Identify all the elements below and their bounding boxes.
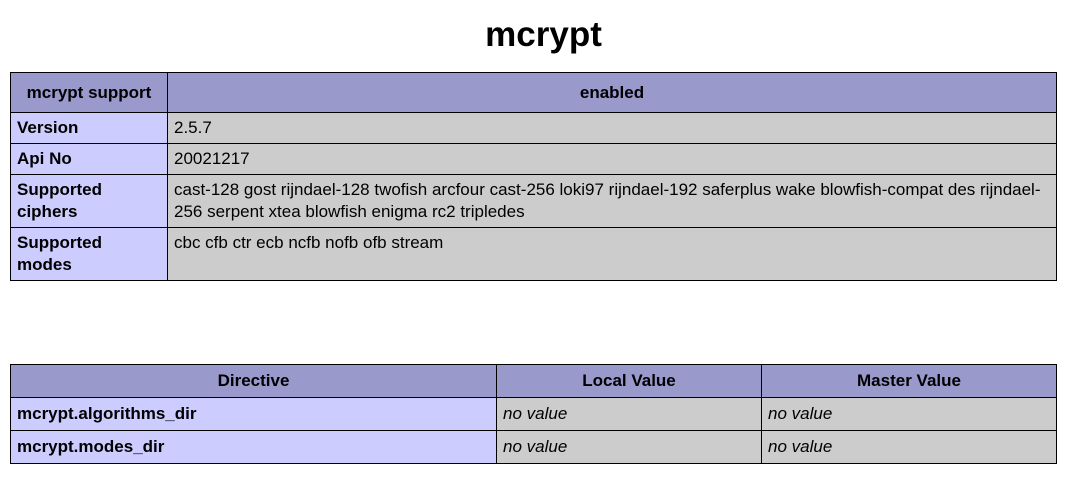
module-name-header: mcrypt support: [11, 73, 168, 113]
row-label-supported-modes: Supported modes: [11, 228, 168, 281]
table-row: Supported ciphers cast-128 gost rijndael…: [11, 175, 1057, 228]
mcrypt-module-table: mcrypt support enabled Version 2.5.7 Api…: [10, 72, 1057, 281]
column-header-directive: Directive: [11, 365, 497, 398]
page-title: mcrypt: [0, 0, 1087, 56]
row-value-supported-ciphers: cast-128 gost rijndael-128 twofish arcfo…: [168, 175, 1057, 228]
table-row: mcrypt.algorithms_dir no value no value: [11, 398, 1057, 431]
directive-master-value-algorithms-dir: no value: [762, 398, 1057, 431]
directive-master-value-modes-dir: no value: [762, 431, 1057, 464]
mcrypt-directive-table: Directive Local Value Master Value mcryp…: [10, 364, 1057, 464]
row-label-version: Version: [11, 113, 168, 144]
row-label-supported-ciphers: Supported ciphers: [11, 175, 168, 228]
directive-local-value-algorithms-dir: no value: [497, 398, 762, 431]
row-value-supported-modes: cbc cfb ctr ecb ncfb nofb ofb stream: [168, 228, 1057, 281]
directive-name-modes-dir: mcrypt.modes_dir: [11, 431, 497, 464]
row-value-api-no: 20021217: [168, 144, 1057, 175]
directive-local-value-modes-dir: no value: [497, 431, 762, 464]
directive-name-algorithms-dir: mcrypt.algorithms_dir: [11, 398, 497, 431]
row-label-api-no: Api No: [11, 144, 168, 175]
module-status-header: enabled: [168, 73, 1057, 113]
table-header-row: mcrypt support enabled: [11, 73, 1057, 113]
column-header-master-value: Master Value: [762, 365, 1057, 398]
column-header-local-value: Local Value: [497, 365, 762, 398]
row-value-version: 2.5.7: [168, 113, 1057, 144]
table-row: Api No 20021217: [11, 144, 1057, 175]
table-header-row: Directive Local Value Master Value: [11, 365, 1057, 398]
table-row: Supported modes cbc cfb ctr ecb ncfb nof…: [11, 228, 1057, 281]
table-row: Version 2.5.7: [11, 113, 1057, 144]
table-row: mcrypt.modes_dir no value no value: [11, 431, 1057, 464]
phpinfo-mcrypt-page: mcrypt mcrypt support enabled Version 2.…: [0, 0, 1087, 500]
